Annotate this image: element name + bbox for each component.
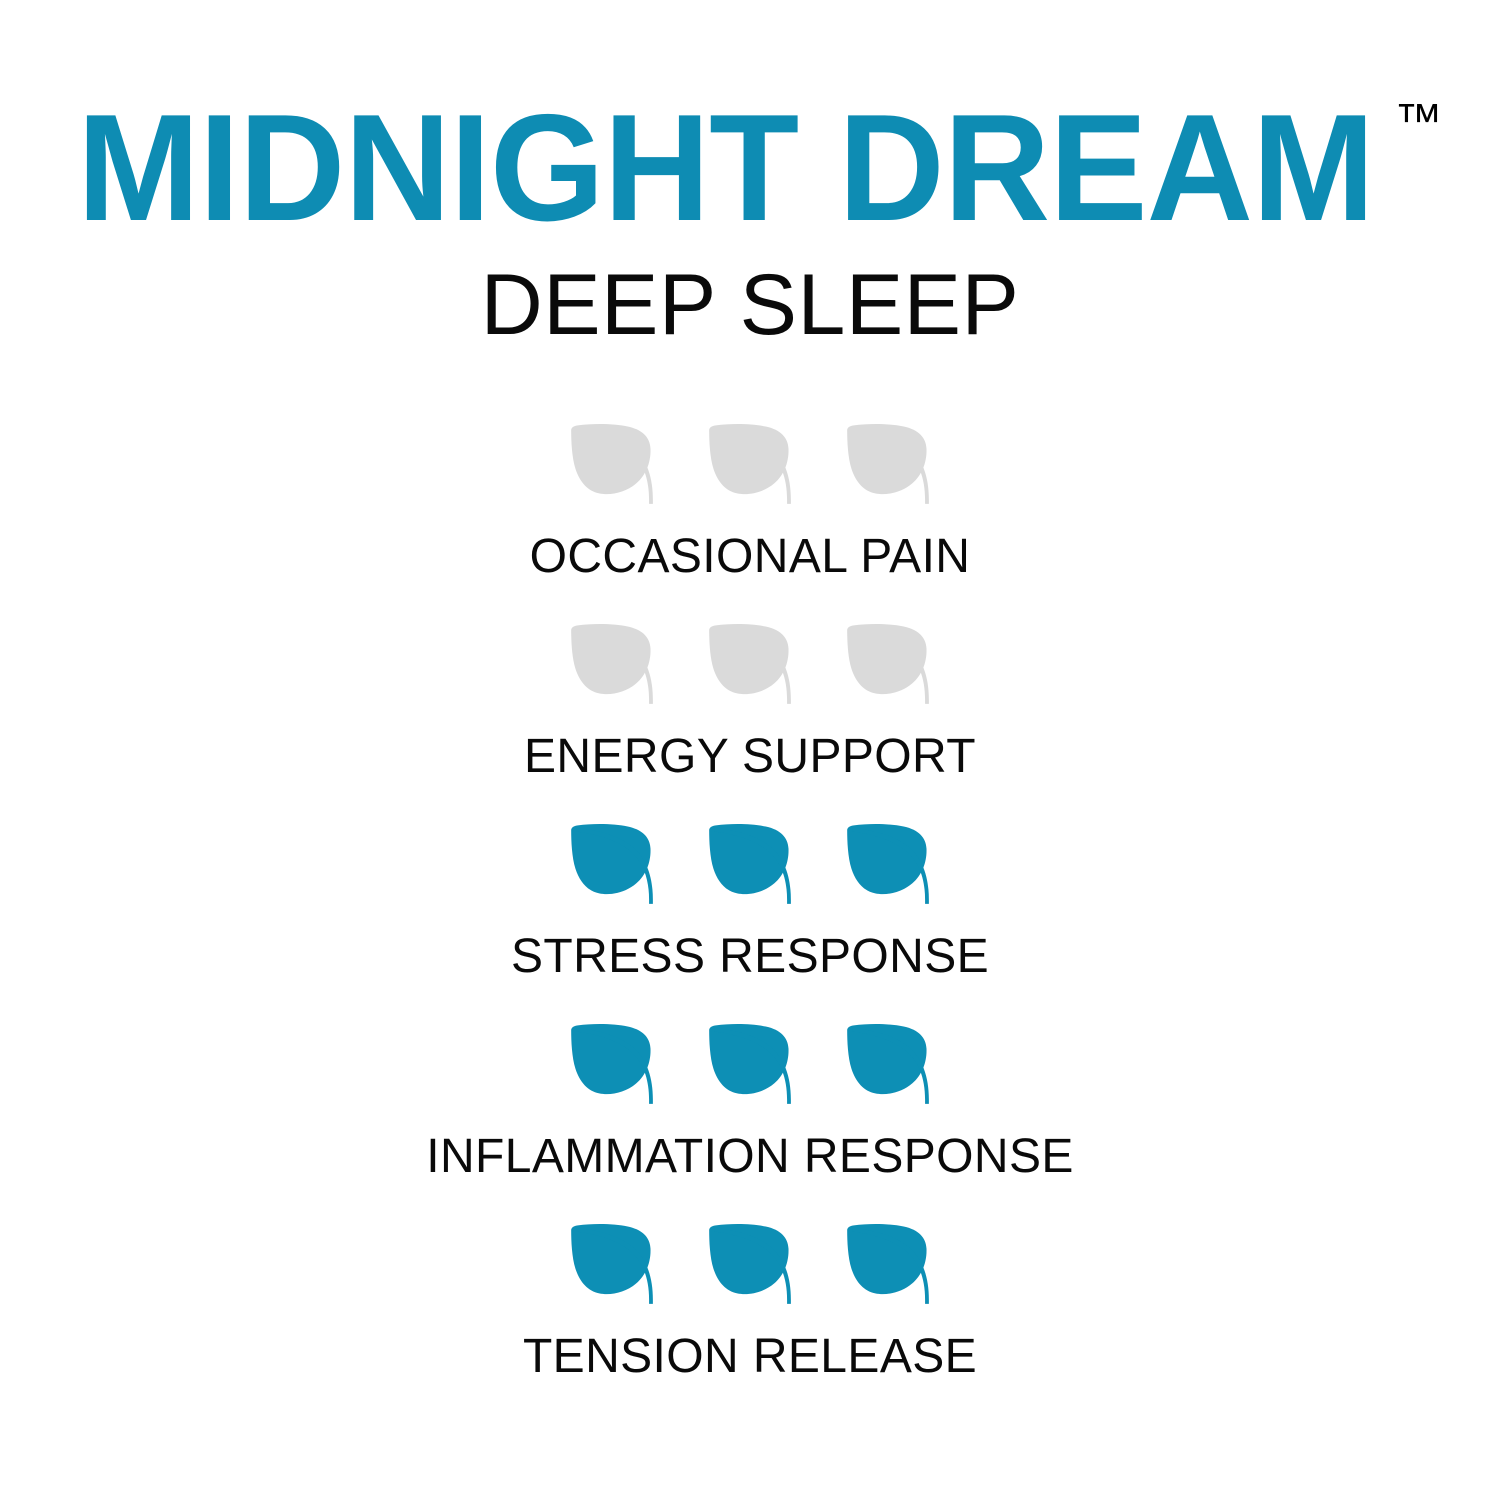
benefits-list: OCCASIONAL PAINENERGY SUPPORTSTRESS RESP…	[0, 415, 1500, 1415]
page-title: MIDNIGHT DREAM™	[0, 92, 1500, 244]
leaf-icon	[841, 1215, 936, 1311]
benefit-label: OCCASIONAL PAIN	[0, 533, 1500, 581]
leaf-rating-group	[0, 1015, 1500, 1111]
leaf-icon	[703, 815, 798, 911]
brand-name: MIDNIGHT DREAM	[78, 92, 1375, 244]
benefit-label: ENERGY SUPPORT	[0, 733, 1500, 781]
leaf-icon	[841, 415, 936, 511]
benefit-row: STRESS RESPONSE	[0, 815, 1500, 1015]
benefit-label: TENSION RELEASE	[0, 1333, 1500, 1381]
leaf-icon	[703, 415, 798, 511]
benefit-row: ENERGY SUPPORT	[0, 615, 1500, 815]
leaf-icon	[565, 615, 660, 711]
leaf-rating-group	[0, 1215, 1500, 1311]
leaf-icon	[565, 815, 660, 911]
product-benefits-graphic: MIDNIGHT DREAM™ DEEP SLEEP OCCASIONAL PA…	[0, 0, 1500, 1500]
trademark-symbol: ™	[1395, 95, 1443, 148]
leaf-icon	[565, 1215, 660, 1311]
leaf-rating-group	[0, 615, 1500, 711]
leaf-rating-group	[0, 415, 1500, 511]
leaf-rating-group	[0, 815, 1500, 911]
leaf-icon	[841, 1015, 936, 1111]
leaf-icon	[841, 615, 936, 711]
product-subtitle: DEEP SLEEP	[0, 262, 1500, 348]
benefit-row: OCCASIONAL PAIN	[0, 415, 1500, 615]
benefit-row: TENSION RELEASE	[0, 1215, 1500, 1415]
leaf-icon	[565, 415, 660, 511]
leaf-icon	[703, 1215, 798, 1311]
leaf-icon	[565, 1015, 660, 1111]
benefit-row: INFLAMMATION RESPONSE	[0, 1015, 1500, 1215]
benefit-label: INFLAMMATION RESPONSE	[0, 1133, 1500, 1181]
leaf-icon	[703, 1015, 798, 1111]
leaf-icon	[703, 615, 798, 711]
benefit-label: STRESS RESPONSE	[0, 933, 1500, 981]
leaf-icon	[841, 815, 936, 911]
